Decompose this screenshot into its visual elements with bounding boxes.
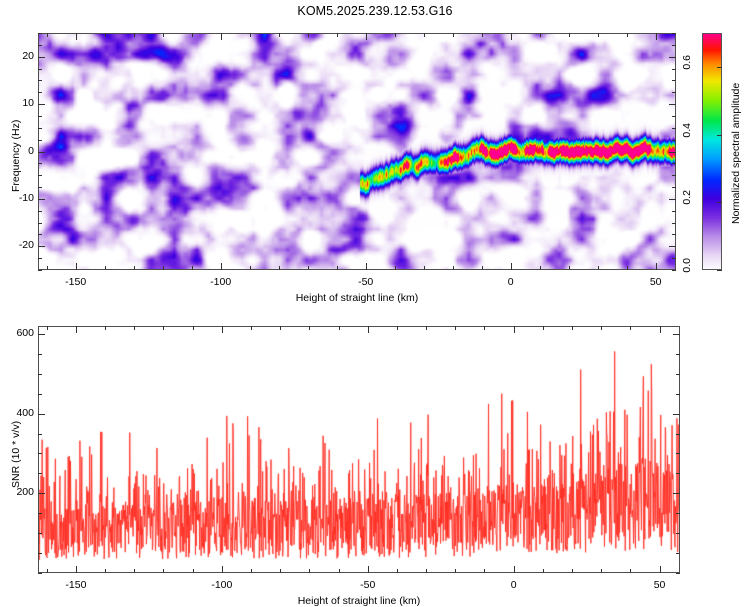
snr-y-minor-tick (676, 513, 680, 514)
colorbar-tick (717, 202, 722, 203)
spectrogram-y-minor-tick (672, 175, 676, 176)
spectrogram-x-major-tick (221, 263, 222, 270)
snr-x-minor-tick (251, 569, 252, 573)
snr-x-major-tick (76, 326, 77, 333)
snr-x-minor-tick (193, 326, 194, 330)
colorbar-tick (717, 67, 722, 68)
snr-x-minor-tick (601, 326, 602, 330)
spectrogram-y-major-tick (38, 246, 45, 247)
snr-x-minor-tick (134, 569, 135, 573)
spectrogram-y-minor-tick (38, 211, 42, 212)
spectrogram-y-minor-tick (38, 140, 42, 141)
snr-x-minor-tick (339, 326, 340, 330)
spectrogram-y-major-tick (38, 104, 45, 105)
spectrogram-y-minor-tick (38, 187, 42, 188)
spectrogram-y-minor-tick (38, 116, 42, 117)
snr-x-minor-tick (163, 326, 164, 330)
spectrogram-y-minor-tick (38, 80, 42, 81)
snr-x-axis-label: Height of straight line (km) (279, 595, 439, 607)
spectrogram-x-minor-tick (192, 33, 193, 37)
spectrogram-y-minor-tick (38, 69, 42, 70)
snr-x-minor-tick (47, 569, 48, 573)
spectrogram-x-major-tick (221, 33, 222, 40)
spectrogram-x-major-tick (76, 33, 77, 40)
spectrogram-y-minor-tick (38, 223, 42, 224)
spectrogram-x-minor-tick (395, 266, 396, 270)
snr-y-axis-label: SNR (10 * v/v) (10, 420, 22, 487)
snr-y-minor-tick (38, 473, 42, 474)
colorbar-tick-label: 0.0 (681, 258, 693, 280)
spectrogram-y-minor-tick (672, 234, 676, 235)
snr-y-minor-tick (38, 573, 42, 574)
spectrogram-y-minor-tick (38, 258, 42, 259)
snr-y-minor-tick (676, 374, 680, 375)
snr-y-minor-tick (676, 533, 680, 534)
spectrogram-x-minor-tick (134, 266, 135, 270)
spectrogram-y-major-tick (669, 152, 676, 153)
spectrogram-x-minor-tick (424, 266, 425, 270)
snr-y-minor-tick (676, 354, 680, 355)
spectrogram-x-minor-tick (163, 266, 164, 270)
colorbar-tick (717, 135, 722, 136)
spectrogram-x-major-tick (366, 263, 367, 270)
spectrogram-y-minor-tick (672, 128, 676, 129)
spectrogram-x-minor-tick (627, 33, 628, 37)
snr-x-tick-label: 50 (644, 579, 676, 591)
snr-x-tick-label: -100 (206, 579, 238, 591)
snr-x-minor-tick (601, 569, 602, 573)
spectrogram-y-minor-tick (672, 211, 676, 212)
spectrogram-y-axis-label: Frequency (Hz) (10, 119, 22, 191)
snr-x-major-tick (368, 326, 369, 333)
snr-y-major-tick (673, 493, 680, 494)
snr-trace-plot (38, 326, 680, 573)
spectrogram-x-minor-tick (308, 266, 309, 270)
colorbar-tick (717, 270, 722, 271)
spectrogram-x-minor-tick (598, 266, 599, 270)
snr-x-minor-tick (543, 569, 544, 573)
snr-y-minor-tick (38, 453, 42, 454)
spectrogram-x-minor-tick (250, 33, 251, 37)
spectrogram-x-tick-label: -50 (350, 276, 382, 288)
snr-x-minor-tick (163, 569, 164, 573)
snr-x-major-tick (514, 326, 515, 333)
snr-x-minor-tick (251, 326, 252, 330)
spectrogram-y-tick-label: -10 (0, 192, 34, 204)
snr-y-major-tick (38, 493, 45, 494)
spectrogram-x-minor-tick (453, 266, 454, 270)
spectrogram-x-minor-tick (279, 33, 280, 37)
snr-x-minor-tick (47, 326, 48, 330)
spectrogram-y-minor-tick (672, 258, 676, 259)
spectrogram-y-minor-tick (38, 128, 42, 129)
colorbar-gradient (702, 33, 722, 270)
snr-y-minor-tick (676, 473, 680, 474)
snr-x-minor-tick (193, 569, 194, 573)
snr-y-tick-label: 400 (0, 407, 34, 419)
snr-x-minor-tick (339, 569, 340, 573)
spectrogram-x-minor-tick (47, 33, 48, 37)
snr-x-major-tick (222, 326, 223, 333)
spectrogram-x-minor-tick (453, 33, 454, 37)
snr-y-minor-tick (676, 434, 680, 435)
spectrogram-x-minor-tick (337, 266, 338, 270)
spectrogram-y-minor-tick (38, 175, 42, 176)
spectrogram-x-minor-tick (105, 266, 106, 270)
spectrogram-x-minor-tick (250, 266, 251, 270)
spectrogram-x-minor-tick (308, 33, 309, 37)
snr-x-minor-tick (572, 569, 573, 573)
spectrogram-y-minor-tick (38, 33, 42, 34)
snr-x-minor-tick (280, 326, 281, 330)
snr-y-minor-tick (676, 573, 680, 574)
snr-x-minor-tick (455, 326, 456, 330)
colorbar-tick-label: 0.6 (681, 55, 693, 77)
snr-y-minor-tick (38, 434, 42, 435)
colorbar-label: Normalized spectral amplitude (730, 82, 742, 223)
snr-x-minor-tick (309, 326, 310, 330)
snr-x-major-tick (660, 566, 661, 573)
snr-y-minor-tick (38, 533, 42, 534)
spectrogram-x-minor-tick (279, 266, 280, 270)
snr-x-minor-tick (630, 569, 631, 573)
snr-x-tick-label: 0 (498, 579, 530, 591)
spectrogram-y-major-tick (669, 246, 676, 247)
snr-x-major-tick (76, 566, 77, 573)
spectrogram-x-tick-label: -150 (60, 276, 92, 288)
page-title: KOM5.2025.239.12.53.G16 (0, 4, 750, 18)
snr-x-minor-tick (572, 326, 573, 330)
spectrogram-x-major-tick (656, 33, 657, 40)
spectrogram-y-minor-tick (672, 223, 676, 224)
spectrogram-y-tick-label: -20 (0, 239, 34, 251)
spectrogram-y-minor-tick (672, 80, 676, 81)
snr-y-major-tick (38, 334, 45, 335)
snr-x-minor-tick (397, 569, 398, 573)
spectrogram-y-minor-tick (672, 33, 676, 34)
spectrogram-x-major-tick (656, 263, 657, 270)
snr-y-minor-tick (676, 394, 680, 395)
spectrogram-y-major-tick (669, 199, 676, 200)
snr-x-major-tick (368, 566, 369, 573)
spectrogram-x-tick-label: 0 (495, 276, 527, 288)
snr-x-minor-tick (630, 326, 631, 330)
snr-x-major-tick (660, 326, 661, 333)
spectrogram-y-minor-tick (38, 92, 42, 93)
spectrogram-y-major-tick (38, 152, 45, 153)
spectrogram-x-major-tick (366, 33, 367, 40)
snr-y-major-tick (673, 414, 680, 415)
snr-x-minor-tick (484, 326, 485, 330)
spectrogram-x-minor-tick (627, 266, 628, 270)
spectrogram-x-major-tick (76, 263, 77, 270)
snr-x-minor-tick (105, 326, 106, 330)
snr-y-tick-label: 600 (0, 327, 34, 339)
snr-y-minor-tick (38, 374, 42, 375)
spectrogram-x-minor-tick (598, 33, 599, 37)
spectrogram-x-tick-label: -100 (205, 276, 237, 288)
spectrogram-x-tick-label: 50 (640, 276, 672, 288)
spectrogram-y-minor-tick (672, 45, 676, 46)
snr-y-major-tick (673, 334, 680, 335)
spectrogram-x-major-tick (511, 33, 512, 40)
spectrogram-y-minor-tick (672, 187, 676, 188)
spectrogram-y-tick-label: 10 (0, 97, 34, 109)
spectrogram-x-minor-tick (540, 266, 541, 270)
spectrogram-x-major-tick (511, 263, 512, 270)
spectrogram-y-major-tick (669, 104, 676, 105)
snr-x-minor-tick (309, 569, 310, 573)
colorbar-tick-label: 0.4 (681, 123, 693, 145)
snr-x-major-tick (514, 566, 515, 573)
spectrogram-x-minor-tick (424, 33, 425, 37)
spectrogram-y-minor-tick (672, 116, 676, 117)
spectrogram-x-minor-tick (569, 266, 570, 270)
spectrogram-x-minor-tick (47, 266, 48, 270)
snr-x-minor-tick (426, 569, 427, 573)
spectrogram-x-minor-tick (337, 33, 338, 37)
spectrogram-y-minor-tick (38, 45, 42, 46)
spectrogram-x-minor-tick (134, 33, 135, 37)
snr-y-tick-label: 200 (0, 486, 34, 498)
spectrogram-x-minor-tick (163, 33, 164, 37)
spectrogram-x-minor-tick (482, 266, 483, 270)
snr-y-minor-tick (676, 553, 680, 554)
spectrogram-y-tick-label: 20 (0, 50, 34, 62)
snr-x-tick-label: -50 (352, 579, 384, 591)
snr-x-minor-tick (105, 569, 106, 573)
snr-x-minor-tick (543, 326, 544, 330)
snr-y-minor-tick (38, 513, 42, 514)
spectrogram-y-minor-tick (672, 140, 676, 141)
spectrogram-x-minor-tick (482, 33, 483, 37)
spectrogram-y-minor-tick (672, 163, 676, 164)
snr-y-minor-tick (676, 453, 680, 454)
spectrogram-y-major-tick (38, 199, 45, 200)
spectrogram-y-major-tick (669, 57, 676, 58)
spectrogram-y-minor-tick (38, 163, 42, 164)
spectrogram-y-major-tick (38, 57, 45, 58)
spectrogram-x-axis-label: Height of straight line (km) (277, 292, 437, 304)
spectrogram-x-minor-tick (105, 33, 106, 37)
snr-x-tick-label: -150 (60, 579, 92, 591)
snr-y-minor-tick (38, 553, 42, 554)
spectrogram-x-minor-tick (569, 33, 570, 37)
spectrogram-y-minor-tick (672, 270, 676, 271)
snr-y-minor-tick (38, 354, 42, 355)
spectrogram-y-minor-tick (38, 270, 42, 271)
snr-x-minor-tick (134, 326, 135, 330)
snr-x-minor-tick (397, 326, 398, 330)
spectrogram-x-minor-tick (395, 33, 396, 37)
snr-x-major-tick (222, 566, 223, 573)
spectrogram-y-minor-tick (672, 92, 676, 93)
spectrogram-x-minor-tick (540, 33, 541, 37)
spectrogram-y-minor-tick (38, 234, 42, 235)
spectrogram-x-minor-tick (192, 266, 193, 270)
snr-x-minor-tick (426, 326, 427, 330)
snr-x-minor-tick (484, 569, 485, 573)
snr-x-minor-tick (455, 569, 456, 573)
snr-y-minor-tick (38, 394, 42, 395)
spectrogram-y-minor-tick (672, 69, 676, 70)
colorbar-tick-label: 0.2 (681, 190, 693, 212)
spectrogram-image (38, 33, 676, 270)
snr-y-major-tick (38, 414, 45, 415)
snr-x-minor-tick (280, 569, 281, 573)
